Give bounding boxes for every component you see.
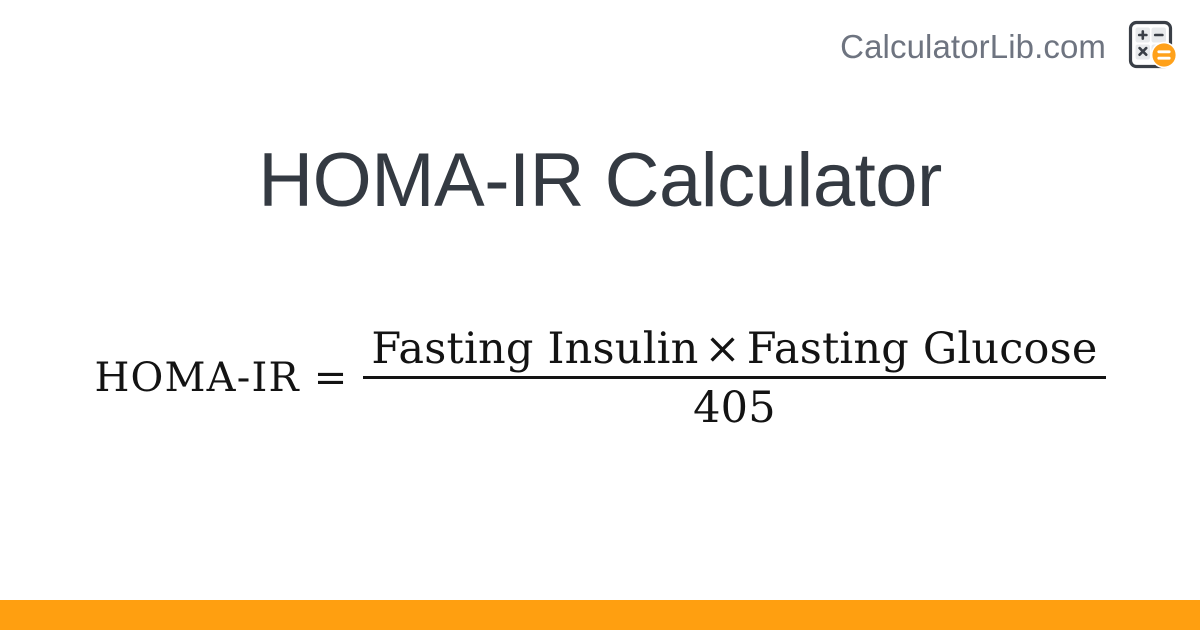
brand-name: CalculatorLib.com bbox=[840, 30, 1106, 63]
formula-denominator: 405 bbox=[693, 379, 776, 432]
numerator-term-insulin: Fasting Insulin bbox=[371, 324, 698, 374]
formula-left-hand-side: HOMA-IR bbox=[94, 358, 299, 400]
bottom-accent-bar bbox=[0, 600, 1200, 630]
formula-equals-sign: = bbox=[314, 358, 348, 400]
numerator-term-glucose: Fasting Glucose bbox=[747, 324, 1098, 374]
multiplication-sign-icon: × bbox=[699, 324, 747, 374]
brand-header: CalculatorLib.com bbox=[0, 0, 1200, 92]
formula-block: HOMA-IR = Fasting Insulin×Fasting Glucos… bbox=[0, 325, 1200, 432]
formula-numerator: Fasting Insulin×Fasting Glucose bbox=[363, 325, 1105, 376]
calculator-icon bbox=[1126, 19, 1180, 73]
page-title: HOMA-IR Calculator bbox=[0, 143, 1200, 219]
page-root: CalculatorLib.com bbox=[0, 0, 1200, 630]
formula-fraction: Fasting Insulin×Fasting Glucose 405 bbox=[363, 325, 1105, 432]
homa-ir-formula: HOMA-IR = Fasting Insulin×Fasting Glucos… bbox=[94, 325, 1105, 432]
